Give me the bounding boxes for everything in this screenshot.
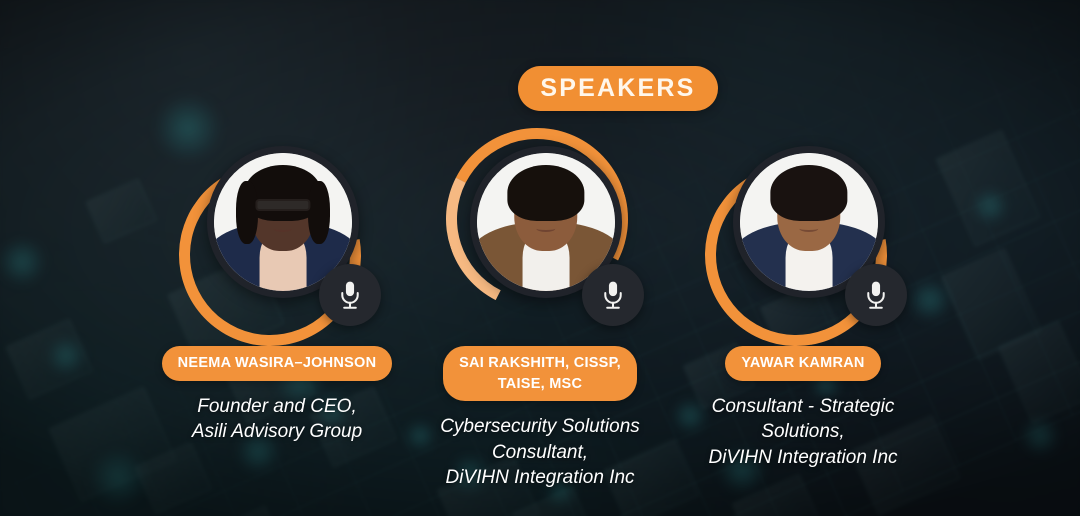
speakers-header-label: SPEAKERS	[540, 74, 695, 103]
speakers-panel: SPEAKERS NEEMA WASIRA–JOHNSONFounder and…	[0, 0, 1080, 516]
speaker-list: NEEMA WASIRA–JOHNSONFounder and CEO, Asi…	[0, 140, 1080, 491]
speaker-card: NEEMA WASIRA–JOHNSONFounder and CEO, Asi…	[146, 140, 409, 445]
speaker-name-badge: YAWAR KAMRAN	[725, 346, 880, 381]
speaker-role: Consultant - Strategic Solutions, DiVIHN…	[708, 394, 897, 471]
speaker-avatar	[703, 140, 903, 332]
speaker-name-badge: NEEMA WASIRA–JOHNSON	[162, 346, 393, 381]
speaker-name-badge: SAI RAKSHITH, CISSP, TAISE, MSC	[443, 346, 637, 401]
speaker-role: Founder and CEO, Asili Advisory Group	[192, 394, 362, 445]
speaker-name: NEEMA WASIRA–JOHNSON	[178, 353, 377, 374]
speaker-card: SAI RAKSHITH, CISSP, TAISE, MSCCybersecu…	[409, 140, 672, 491]
speaker-role: Cybersecurity Solutions Consultant, DiVI…	[440, 414, 640, 491]
microphone-icon	[845, 264, 907, 326]
speakers-header-pill: SPEAKERS	[518, 66, 718, 111]
speaker-name: SAI RAKSHITH, CISSP, TAISE, MSC	[459, 353, 621, 394]
microphone-icon	[582, 264, 644, 326]
speaker-name: YAWAR KAMRAN	[741, 353, 864, 374]
microphone-icon	[319, 264, 381, 326]
glasses-icon	[255, 199, 310, 211]
speaker-card: YAWAR KAMRANConsultant - Strategic Solut…	[672, 140, 935, 471]
speaker-avatar	[177, 140, 377, 332]
speaker-avatar	[440, 140, 640, 332]
